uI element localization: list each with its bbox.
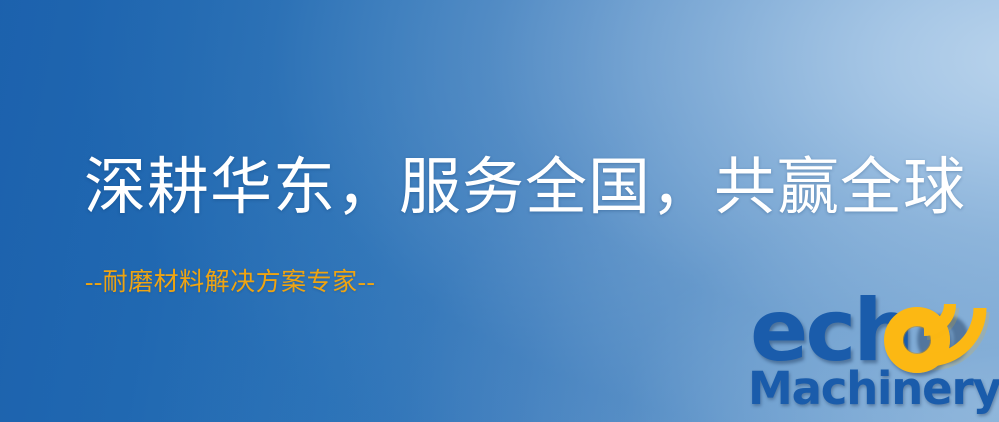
- logo-company-name: Machinery®: [748, 366, 999, 411]
- banner-headline: 深耕华东，服务全国，共赢全球: [84, 152, 966, 224]
- echo-machinery-logo: echo Machinery®: [746, 294, 999, 422]
- logo-company-text: Machinery: [748, 362, 999, 415]
- banner-subtitle: --耐磨材料解决方案专家--: [85, 268, 375, 298]
- promo-banner: 深耕华东，服务全国，共赢全球 --耐磨材料解决方案专家-- echo Machi…: [0, 0, 999, 422]
